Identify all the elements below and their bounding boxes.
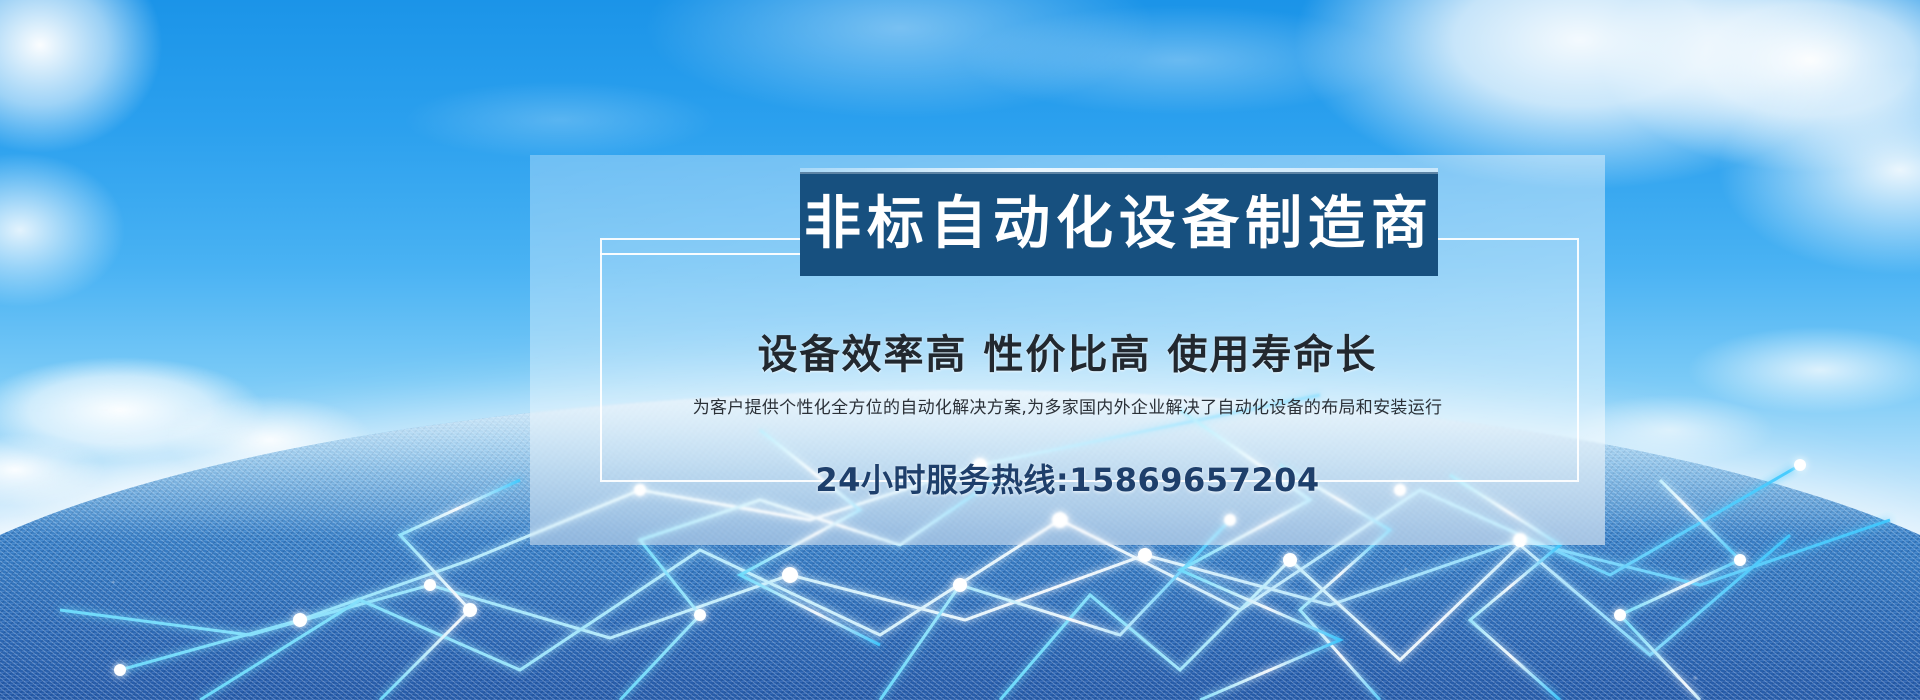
title-plate: 非标自动化设备制造商 xyxy=(800,172,1438,276)
description-text: 为客户提供个性化全方位的自动化解决方案,为多家国内外企业解决了自动化设备的布局和… xyxy=(530,393,1605,418)
page-title: 非标自动化设备制造商 xyxy=(800,196,1438,253)
hotline-label: 24小时服务热线: xyxy=(815,461,1069,499)
hero-banner: 非标自动化设备制造商 设备效率高 性价比高 使用寿命长 为客户提供个性化全方位的… xyxy=(0,0,1920,700)
hotline-number: 15869657204 xyxy=(1069,461,1319,499)
hotline: 24小时服务热线:15869657204 xyxy=(530,455,1605,501)
decorative-rule xyxy=(600,253,815,255)
tagline: 设备效率高 性价比高 使用寿命长 xyxy=(530,322,1605,380)
